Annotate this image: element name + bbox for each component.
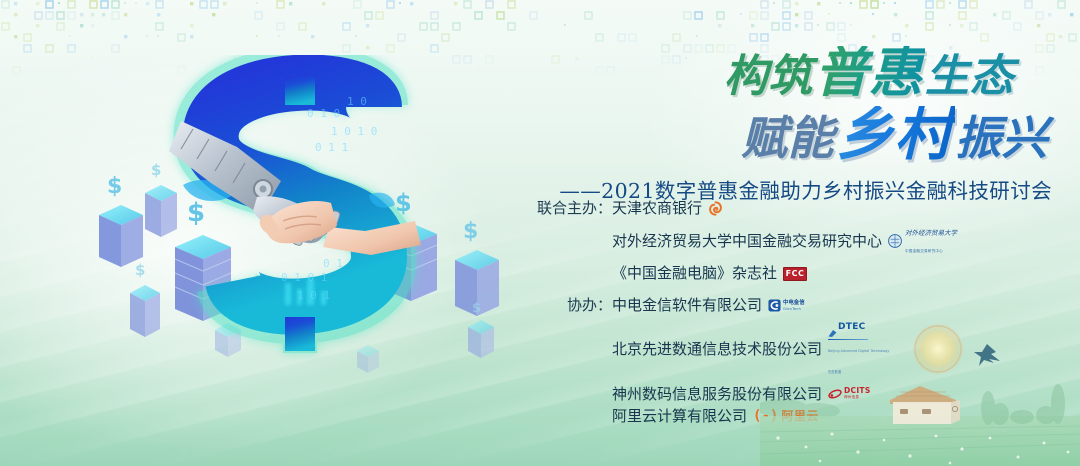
cetc-logo-sub: GienTech <box>783 306 805 312</box>
svg-text:0 1 1: 0 1 1 <box>315 141 348 154</box>
dcits-logo: DCITS 神州信息 <box>828 388 871 400</box>
credit-row: 联合主办： 北京先进数通信息技术股份公司 DTEC Beijing Advanc… <box>536 317 957 383</box>
cetc-logo-name: 中电金信 <box>783 300 805 306</box>
credit-row: 联合主办： 神州数码信息服务股份有限公司 DCITS 神州信息 <box>536 384 957 405</box>
fcc-logo-text: FCC <box>786 263 805 284</box>
svg-text:1 0 1: 1 0 1 <box>297 289 330 302</box>
svg-text:$: $ <box>219 304 228 319</box>
title-seg-1b: 普惠 <box>813 46 925 100</box>
aliyun-logo-mark: (-) <box>753 409 778 423</box>
credit-group-cosponsors: 协办： 中电金信软件有限公司 中电金信 GienTech 联合主办： 北 <box>536 295 957 427</box>
credit-label-cosponsors: 协办： <box>536 295 612 316</box>
title-line-2: 赋能乡村振兴 <box>494 106 1054 164</box>
credit-co-dcits: 神州数码信息服务股份有限公司 <box>612 384 822 405</box>
credit-co-cetc: 中电金信软件有限公司 <box>612 295 762 316</box>
fcc-logo: FCC <box>783 267 807 281</box>
credit-group-organizers: 联合主办： 天津农商银行 联合主办： 对外经济贸易大学中国金融交易研究中心 <box>536 198 957 284</box>
dcits-swoosh-icon <box>828 389 842 399</box>
banner-title: 构筑普惠生态 赋能乡村振兴 ——2021数字普惠金融助力乡村振兴金融科技研讨会 <box>494 46 1054 204</box>
svg-text:$: $ <box>187 198 205 228</box>
dollar-coin-towers: $ $ $ <box>99 161 499 373</box>
credit-row: 联合主办： 阿里云计算有限公司 (-) 阿里云 <box>536 406 957 427</box>
credit-label-organizers: 联合主办： <box>536 198 612 219</box>
title-line-1: 构筑普惠生态 <box>494 46 1054 100</box>
svg-text:$: $ <box>135 261 145 279</box>
title-seg-1a: 构筑 <box>724 55 813 99</box>
credit-org-fcc-magazine: 《中国金融电脑》杂志社 <box>612 263 777 284</box>
credits-block: 联合主办： 天津农商银行 联合主办： 对外经济贸易大学中国金融交易研究中心 <box>536 198 957 438</box>
title-seg-2c: 振兴 <box>955 115 1048 161</box>
cetc-gienotech-logo: 中电金信 GienTech <box>768 299 805 312</box>
credit-row: 联合主办： 《中国金融电脑》杂志社 FCC <box>536 263 957 284</box>
svg-text:1 0 1 0: 1 0 1 0 <box>331 125 377 138</box>
svg-text:$: $ <box>107 174 122 199</box>
credit-row: 协办： 中电金信软件有限公司 中电金信 GienTech <box>536 295 957 316</box>
dtec-arrow-icon <box>828 329 837 338</box>
svg-text:$: $ <box>395 189 412 217</box>
aliyun-logo: (-) 阿里云 <box>753 406 819 427</box>
swallow-bird <box>974 344 1000 366</box>
title-seg-1c: 生态 <box>925 55 1014 99</box>
svg-text:0 1 0: 0 1 0 <box>307 107 340 120</box>
svg-text:0 1: 0 1 <box>323 257 343 270</box>
uibe-logo-sub: 中国金融交易研究中心 <box>905 241 957 262</box>
credit-org-tjrcb: 天津农商银行 <box>612 198 702 219</box>
uibe-logo: 对外经济贸易大学 中国金融交易研究中心 <box>888 220 957 262</box>
credit-row: 联合主办： 对外经济贸易大学中国金融交易研究中心 对外经济贸易大学 中国金融交易… <box>536 220 957 262</box>
robot-human-handshake <box>169 121 421 255</box>
svg-text:$: $ <box>151 161 161 179</box>
credit-row: 联合主办： 天津农商银行 <box>536 198 957 219</box>
title-seg-2b: 乡村 <box>834 106 955 164</box>
svg-text:$: $ <box>463 219 478 244</box>
title-seg-2a: 赋能 <box>741 115 834 161</box>
credit-org-uibe: 对外经济贸易大学中国金融交易研究中心 <box>612 231 882 252</box>
aliyun-logo-name: 阿里云 <box>781 406 819 427</box>
svg-text:$: $ <box>472 301 481 316</box>
dtec-logo: DTEC Beijing Advanced Digital Technology… <box>828 317 889 383</box>
left-glow <box>0 40 500 460</box>
credit-co-dtec: 北京先进数通信息技术股份公司 <box>612 339 822 360</box>
dtec-logo-name: DTEC <box>838 317 866 338</box>
dtec-logo-cn: 先进数通 <box>828 362 841 383</box>
svg-text:0 1 0 1: 0 1 0 1 <box>281 271 327 284</box>
credit-co-aliyun: 阿里云计算有限公司 <box>612 406 747 427</box>
conference-banner: $ $ $ <box>0 0 1080 466</box>
dtec-logo-sub: Beijing Advanced Digital Technology <box>828 341 889 362</box>
dollar-glyph: 0 1 0 1 0 1 0 0 1 1 1 0 0 1 0 1 1 0 1 0 … <box>204 77 385 353</box>
uibe-logo-name: 对外经济贸易大学 <box>905 229 957 237</box>
dollar-sign-robot-handshake: $ $ $ <box>85 55 515 385</box>
tjrcb-logo <box>708 201 723 216</box>
svg-text:1 0: 1 0 <box>347 95 367 108</box>
